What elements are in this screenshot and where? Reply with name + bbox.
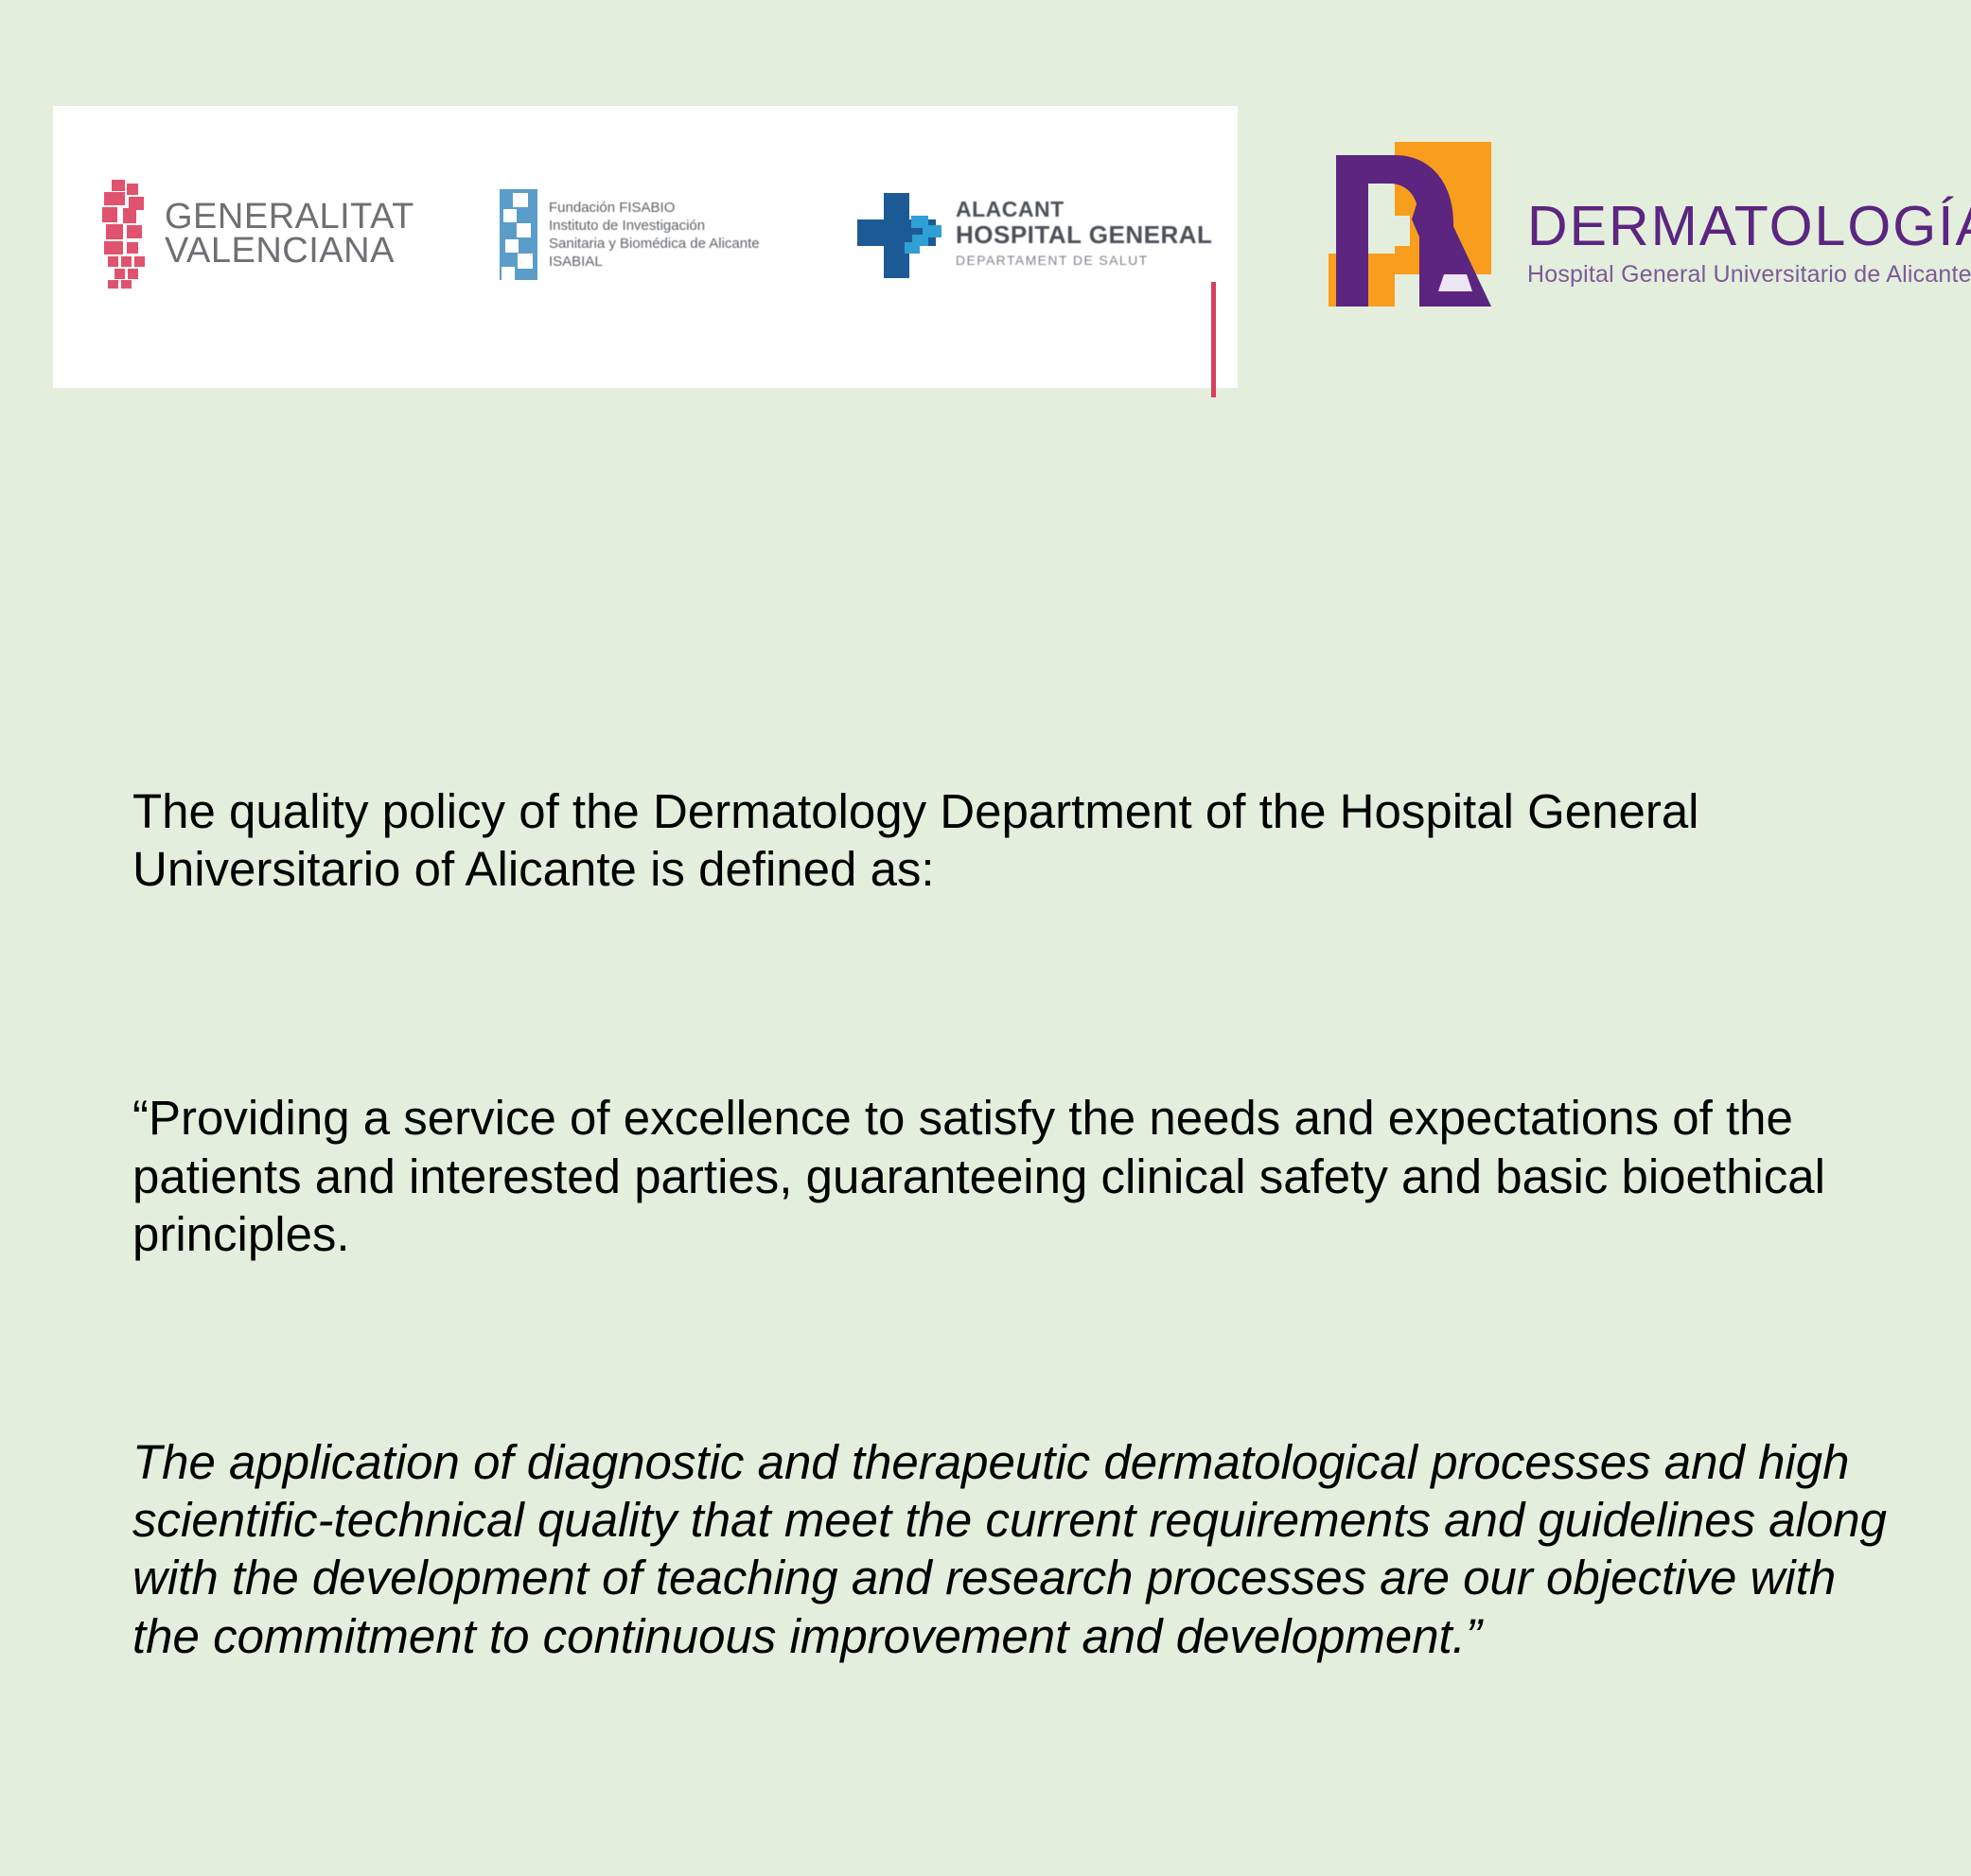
medical-cross-icon bbox=[855, 187, 946, 278]
quote-paragraph: “Providing a service of excellence to sa… bbox=[132, 1089, 1911, 1263]
logo-generalitat-valenciana: GENERALITAT VALENCIANA bbox=[102, 180, 414, 289]
quality-policy-body: The quality policy of the Dermatology De… bbox=[132, 782, 1940, 1665]
hospital-line-1: ALACANT bbox=[956, 198, 1212, 222]
dermatology-subtitle: Hospital General Universitario de Alican… bbox=[1527, 261, 1971, 289]
fisabio-line-2: Instituto de Investigación bbox=[549, 217, 760, 235]
hospital-line-2: HOSPITAL GENERAL bbox=[956, 221, 1212, 249]
fisabio-mark-icon bbox=[500, 189, 537, 280]
italic-statement-paragraph: The application of diagnostic and therap… bbox=[132, 1433, 1911, 1665]
logo-alacant-hospital-general: ALACANT HOSPITAL GENERAL DEPARTAMENT DE … bbox=[855, 187, 1212, 278]
institutional-logo-band: GENERALITAT VALENCIANA Fundación FISABIO… bbox=[53, 106, 1238, 388]
dermatology-department-logo: DERMATOLOGÍA Hospital General Universita… bbox=[1329, 142, 1971, 307]
logo-band-divider bbox=[1211, 282, 1216, 397]
fisabio-line-4: ISABIAL bbox=[549, 253, 760, 271]
hospital-line-3: DEPARTAMENT DE SALUT bbox=[956, 254, 1212, 269]
generalitat-bat-mark-icon bbox=[102, 180, 151, 289]
logo-fisabio-isabial: Fundación FISABIO Instituto de Investiga… bbox=[500, 189, 760, 280]
fisabio-line-3: Sanitaria y Biomédica de Alicante bbox=[549, 235, 760, 253]
fisabio-line-1: Fundación FISABIO bbox=[549, 199, 760, 217]
dermatology-title: DERMATOLOGÍA bbox=[1527, 199, 1971, 254]
generalitat-wordmark-line2: VALENCIANA bbox=[165, 235, 414, 268]
dermatology-da-monogram-icon bbox=[1329, 142, 1491, 307]
intro-paragraph: The quality policy of the Dermatology De… bbox=[132, 782, 1911, 898]
generalitat-wordmark-line1: GENERALITAT bbox=[165, 201, 414, 234]
